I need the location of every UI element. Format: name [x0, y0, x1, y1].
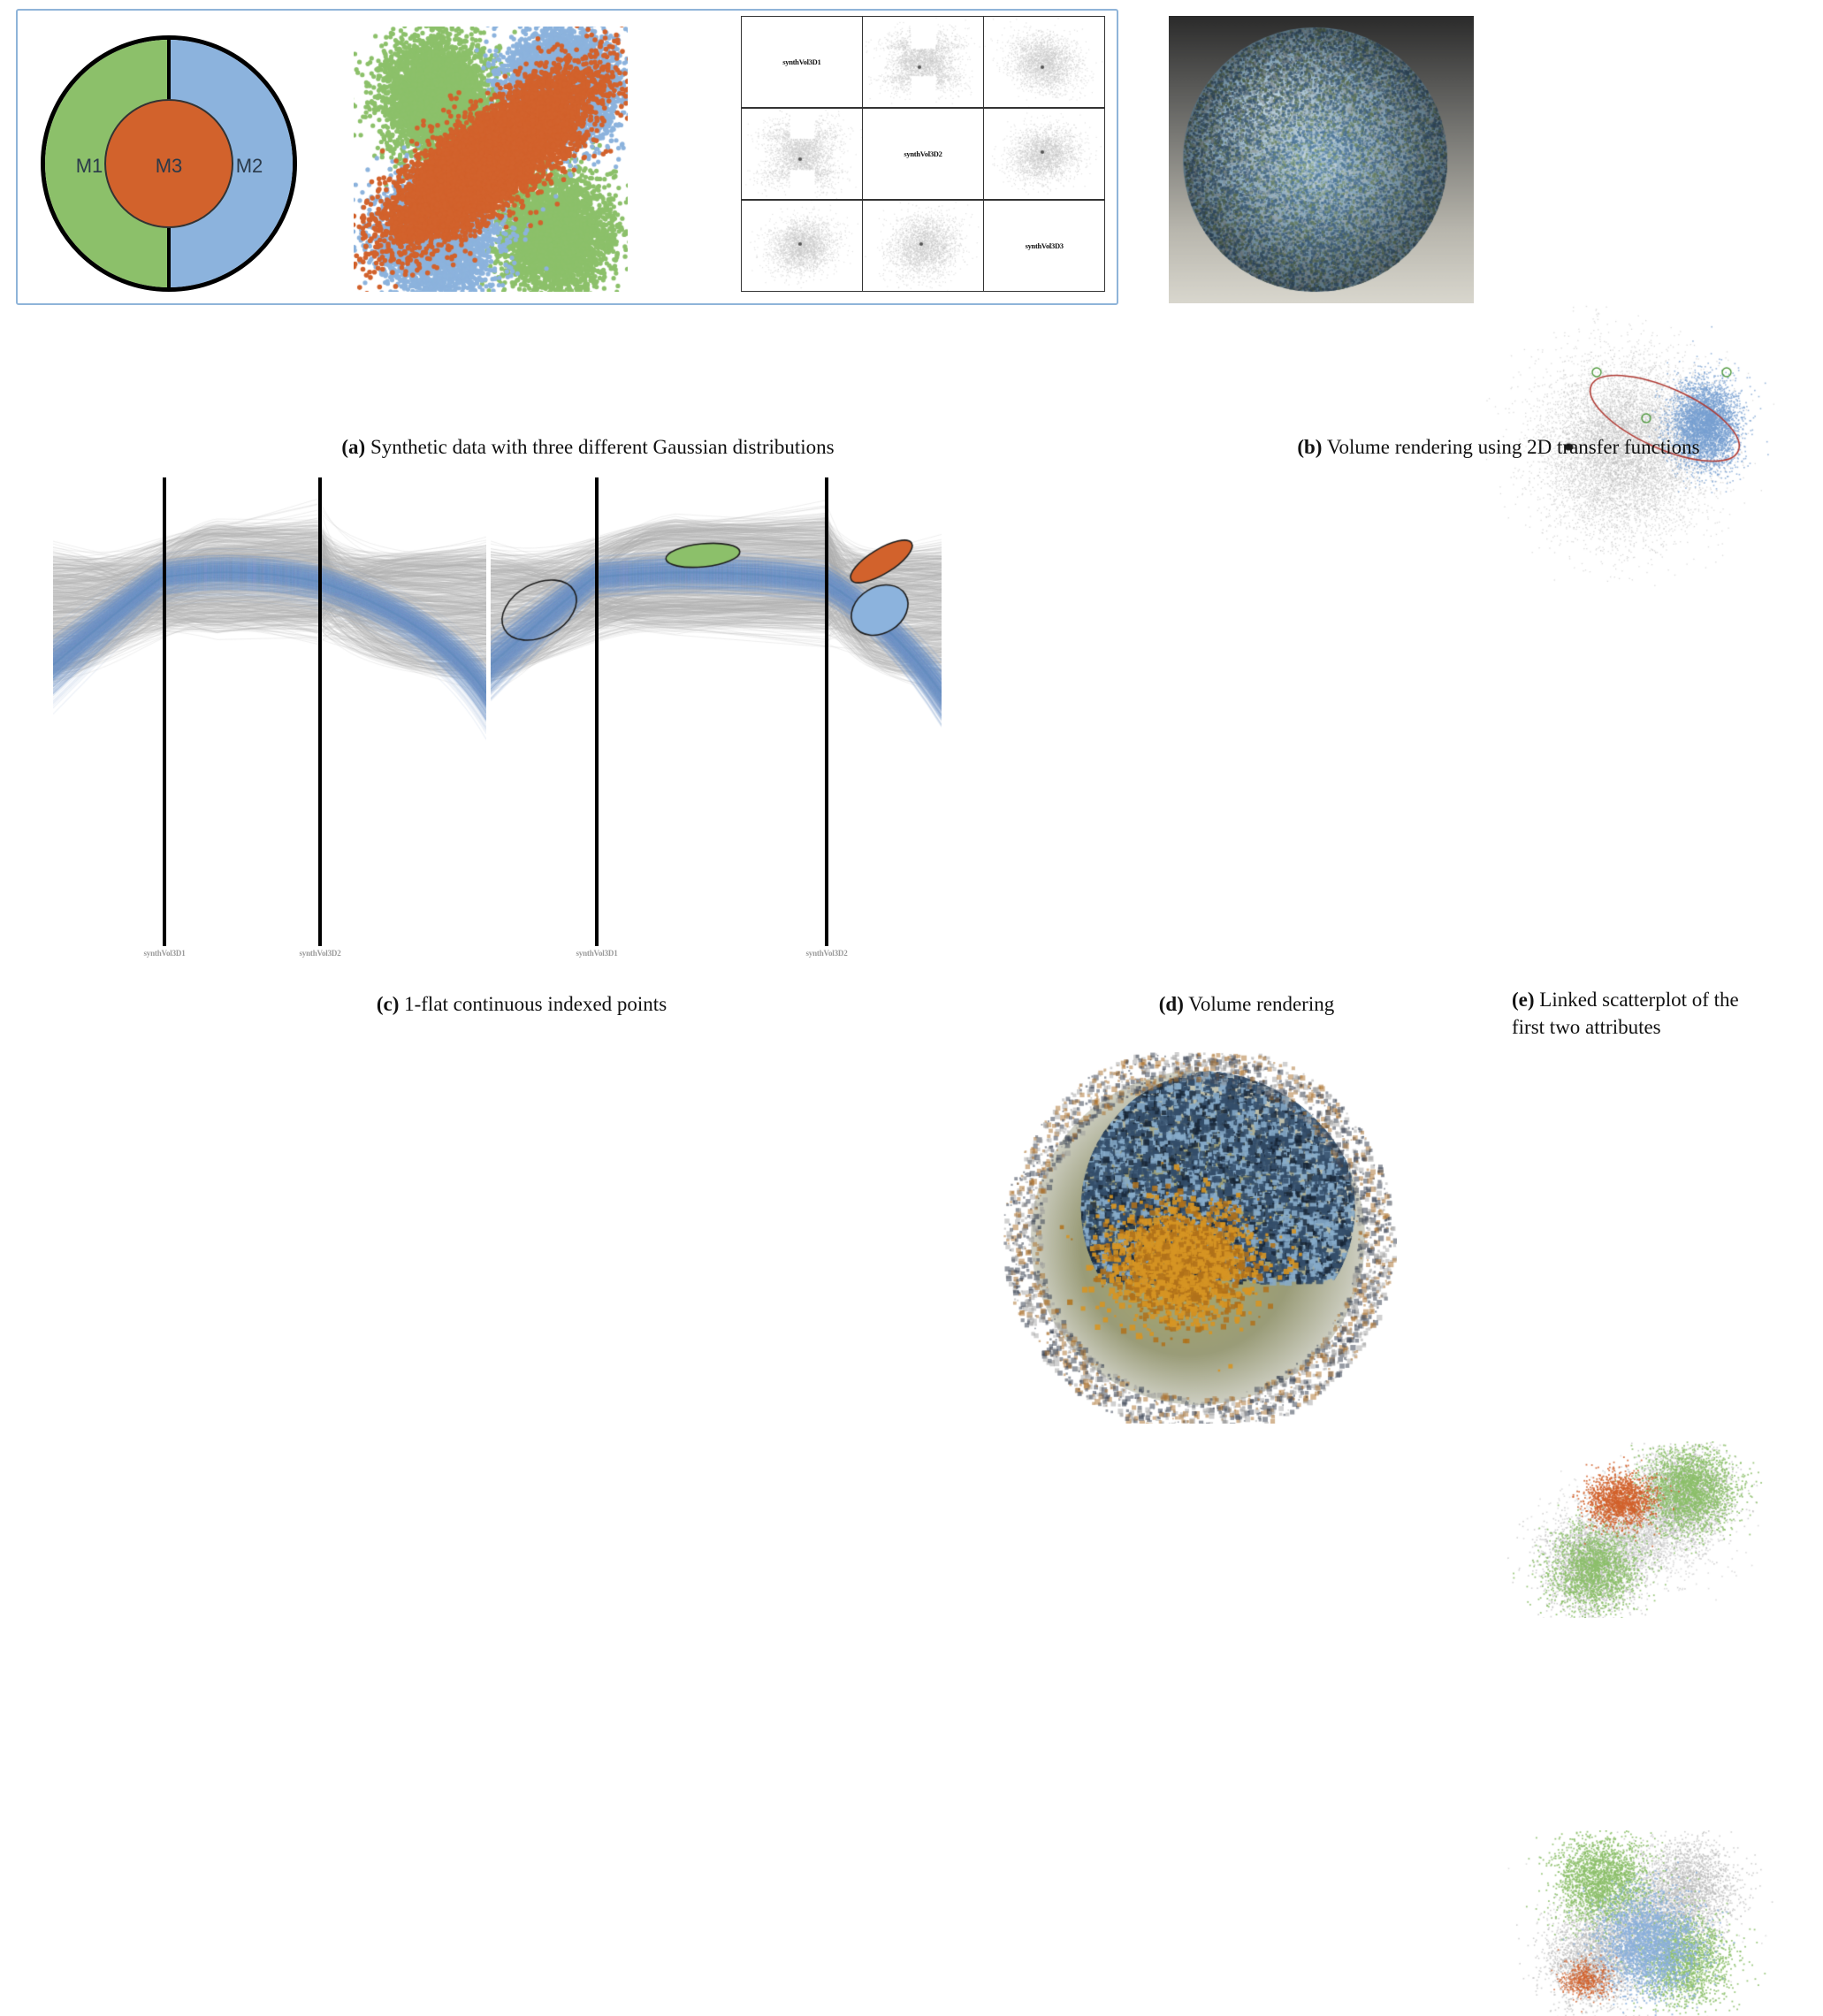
splom-cell-2-0[interactable]: [742, 201, 862, 291]
caption-d-tag: (d): [1159, 993, 1184, 1015]
caption-d: (d) Volume rendering: [1096, 990, 1397, 1018]
venn-label-m3: M3: [156, 155, 183, 178]
pcp-left-axis-2[interactable]: [318, 477, 322, 946]
pcp-right-axis-label-2: synthVol3D2: [806, 949, 848, 958]
pcp-right-axis-1[interactable]: [595, 477, 599, 946]
caption-a-tag: (a): [341, 436, 365, 458]
splom-cell-1-1[interactable]: synthVol3D2: [863, 109, 983, 199]
splom-scatter-canvas: [863, 201, 983, 291]
parallel-coordinates-right: synthVol3D1 synthVol3D2: [491, 477, 942, 973]
volume-rendering-d: [999, 1052, 1397, 1424]
caption-c-tag: (c): [377, 993, 400, 1015]
splom-scatter-canvas: [984, 17, 1104, 107]
caption-d-text: Volume rendering: [1188, 993, 1334, 1015]
splom-scatter-canvas: [742, 201, 862, 291]
linked-scatterplot-e-bottom-canvas: [1503, 1830, 1777, 2016]
splom-cell-0-0[interactable]: synthVol3D1: [742, 17, 862, 107]
linked-scatterplot-e-top-canvas: [1503, 1441, 1768, 1618]
volume-rendering-b-canvas: [1169, 16, 1474, 303]
splom-diagonal-label-1: synthVol3D1: [782, 57, 820, 66]
caption-b-text: Volume rendering using 2D transfer funct…: [1327, 436, 1700, 458]
parallel-coordinates-left-canvas: [53, 477, 486, 946]
splom-scatter-canvas: [742, 109, 862, 199]
pcp-right-axis-2[interactable]: [825, 477, 828, 946]
splom-diagonal-label-3: synthVol3D3: [1026, 241, 1064, 250]
caption-b-tag: (b): [1297, 436, 1322, 458]
pcp-right-axis-label-1: synthVol3D1: [576, 949, 618, 958]
splom-cell-1-0[interactable]: [742, 109, 862, 199]
splom-cell-0-1[interactable]: [863, 17, 983, 107]
volume-rendering-b: [1169, 16, 1474, 303]
splom-cell-1-2[interactable]: [984, 109, 1104, 199]
caption-c-text: 1-flat continuous indexed points: [404, 993, 667, 1015]
caption-a: (a) Synthetic data with three different …: [225, 433, 950, 461]
volume-rendering-d-canvas: [999, 1052, 1397, 1424]
pcp-left-axis-1[interactable]: [163, 477, 166, 946]
caption-b: (b) Volume rendering using 2D transfer f…: [1194, 433, 1804, 461]
splom-cell-2-2[interactable]: synthVol3D3: [984, 201, 1104, 291]
parallel-coordinates-right-canvas: [491, 477, 942, 946]
splom-cell-2-1[interactable]: [863, 201, 983, 291]
splom-cell-0-2[interactable]: [984, 17, 1104, 107]
venn-diagram: M1 M2 M3: [41, 35, 297, 292]
splom-diagonal-label-2: synthVol3D2: [904, 149, 942, 158]
gaussian-scatterplot: [354, 27, 628, 292]
splom-scatter-canvas: [863, 17, 983, 107]
pcp-left-axis-label-1: synthVol3D1: [144, 949, 186, 958]
caption-a-text: Synthetic data with three different Gaus…: [370, 436, 835, 458]
gaussian-scatterplot-canvas: [354, 27, 628, 292]
caption-e: (e) Linked scatterplot of the first two …: [1512, 986, 1768, 1041]
caption-e-text: Linked scatterplot of the first two attr…: [1512, 989, 1739, 1038]
venn-label-m1: M1: [76, 155, 103, 178]
caption-e-tag: (e): [1512, 989, 1535, 1011]
parallel-coordinates-left: synthVol3D1 synthVol3D2: [53, 477, 486, 973]
splom-scatter-canvas: [984, 109, 1104, 199]
linked-scatterplot-e-top: [1503, 1441, 1768, 1618]
scatterplot-matrix: synthVol3D1 synthVol3D2 synthVol3D3: [741, 16, 1105, 292]
venn-label-m2: M2: [236, 155, 263, 178]
linked-scatterplot-e-bottom: [1503, 1830, 1777, 2016]
caption-c: (c) 1-flat continuous indexed points: [283, 990, 760, 1018]
pcp-left-axis-label-2: synthVol3D2: [300, 949, 341, 958]
